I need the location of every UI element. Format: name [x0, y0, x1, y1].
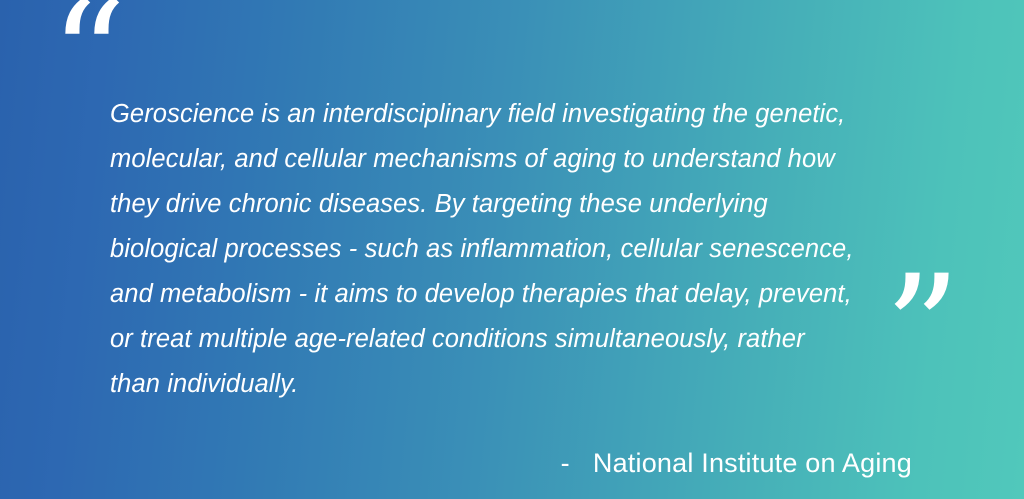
quote-text-block: Geroscience is an interdisciplinary fiel… [110, 92, 940, 407]
quote-card: “ Geroscience is an interdisciplinary fi… [0, 0, 1024, 499]
quote-line: or treat multiple age-related conditions… [110, 317, 940, 362]
attribution-source: National Institute on Aging [593, 448, 912, 478]
closing-quote-icon: ” [884, 256, 959, 406]
quote-line: Geroscience is an interdisciplinary fiel… [110, 92, 940, 137]
quote-line: molecular, and cellular mechanisms of ag… [110, 137, 940, 182]
quote-line: and metabolism - it aims to develop ther… [110, 272, 940, 317]
attribution: - National Institute on Aging [110, 406, 912, 499]
quote-line: than individually. [110, 362, 940, 407]
attribution-dash: - [561, 448, 570, 478]
attribution-separator [570, 448, 593, 478]
quote-line: biological processes - such as inflammat… [110, 227, 940, 272]
quote-line: they drive chronic diseases. By targetin… [110, 182, 940, 227]
